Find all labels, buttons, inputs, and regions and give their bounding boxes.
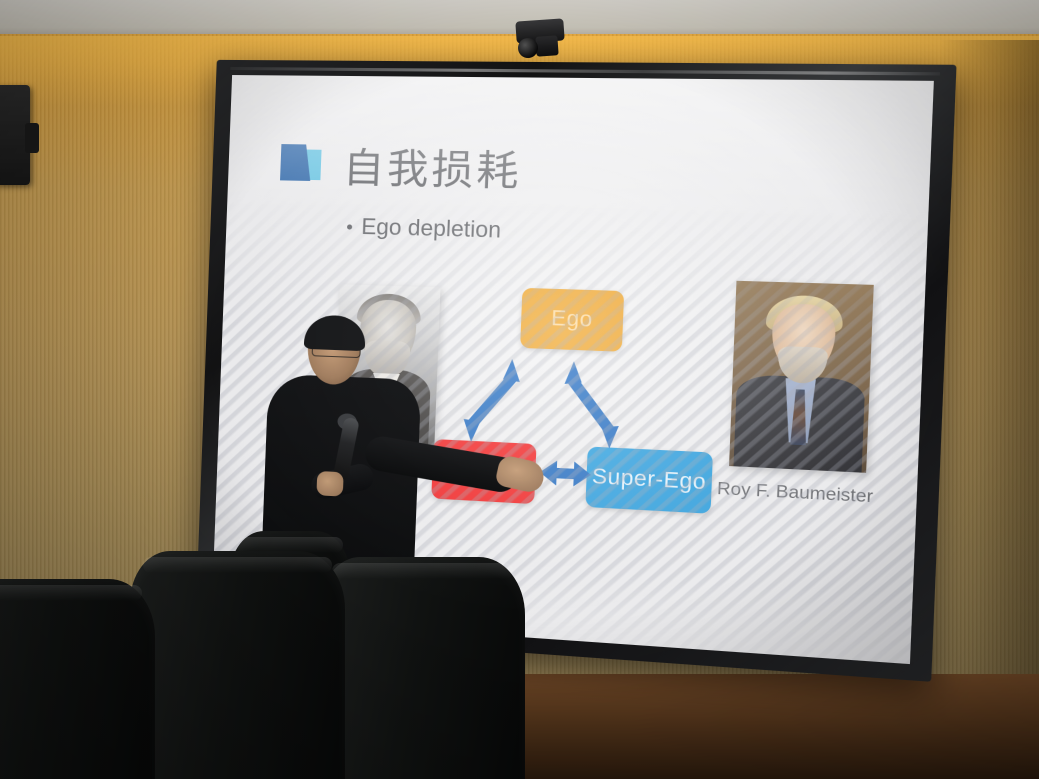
camera-lens [518, 38, 538, 58]
speaker-bracket [25, 123, 39, 153]
bezel-highlight [230, 67, 940, 76]
slide-bullet-item: Ego depletion [347, 213, 502, 243]
baumeister-portrait-image [729, 281, 874, 473]
presenter-mic-hand [316, 471, 343, 497]
wall-speaker-icon [0, 85, 30, 185]
id-superego-arrow-icon [537, 457, 594, 491]
slide-title: 自我损耗 [342, 135, 523, 198]
camera-mount [535, 35, 558, 56]
chair-back [130, 551, 345, 779]
chair-back [0, 579, 155, 779]
ceiling-camera-icon [510, 20, 566, 64]
wall-shadow [940, 40, 1039, 740]
lecture-room-photo: 自我损耗 Ego depletion [0, 0, 1039, 779]
baumeister-caption: Roy F. Baumeister [717, 478, 874, 507]
ego-superego-arrow-icon [558, 357, 626, 454]
node-super-ego-label: Super-Ego [592, 464, 707, 495]
chair-back [320, 557, 525, 779]
node-ego-label: Ego [551, 306, 594, 332]
presenter-mic-arm [309, 461, 377, 501]
blue-square-icon [280, 144, 322, 183]
freud-portrait-image [333, 284, 440, 456]
bullet-text: Ego depletion [361, 214, 502, 244]
auditorium-seating [0, 519, 540, 779]
diagram-node-super-ego: Super-Ego [585, 446, 713, 513]
bullet-dot-icon [347, 224, 352, 229]
slide-title-row: 自我损耗 [280, 134, 524, 198]
diagram-node-id [431, 439, 536, 504]
id-ego-arrow-icon [458, 353, 525, 449]
diagram-node-ego: Ego [520, 288, 624, 352]
